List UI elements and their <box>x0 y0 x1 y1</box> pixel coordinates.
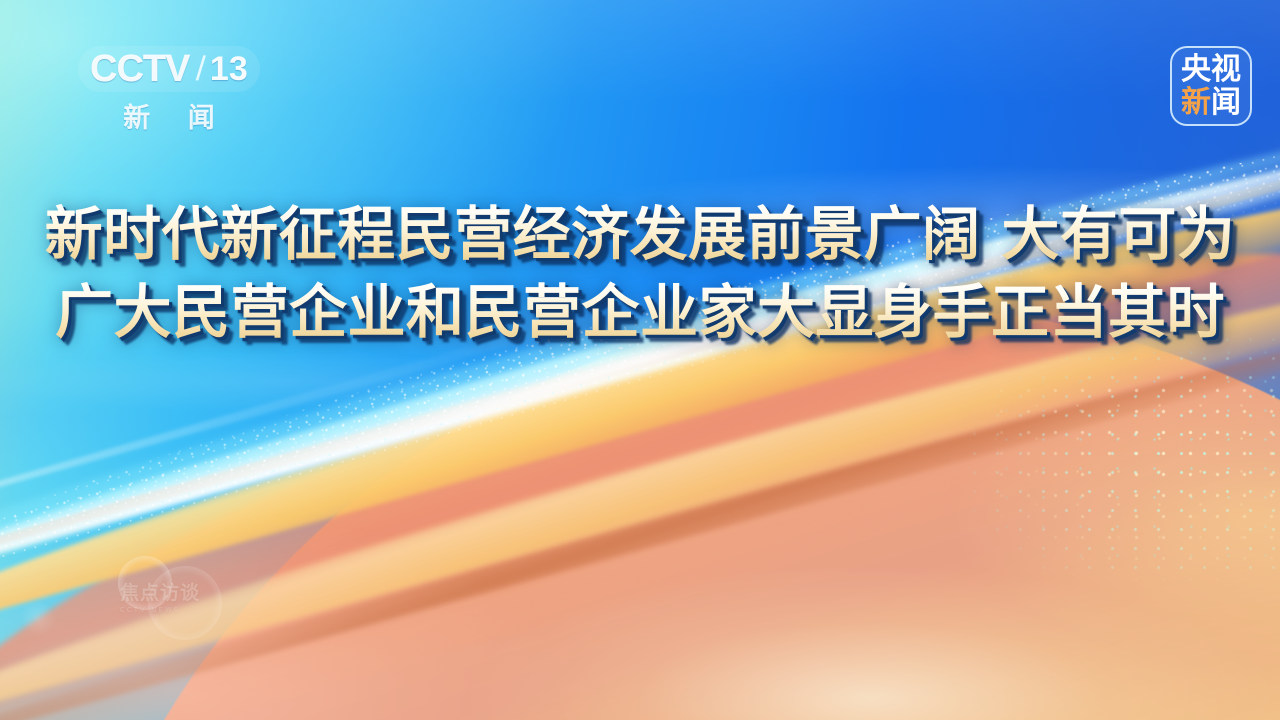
badge-line-bottom: 新 闻 <box>1181 88 1241 118</box>
cctv-wordmark: CCTV <box>90 50 189 88</box>
watermark-text: 焦点访谈 <box>120 582 200 604</box>
badge-line-top: 央 视 <box>1181 55 1241 85</box>
cctv13-logo-pill: CCTV / 13 <box>78 46 260 92</box>
badge-glyph-shi: 视 <box>1211 55 1241 85</box>
lens-flare-ring-a <box>118 556 172 610</box>
cctv-channel-number: 13 <box>210 52 248 86</box>
headline-block: 新时代新征程民营经济发展前景广阔 大有可为 广大民营企业和民营企业家大显身手正当… <box>0 196 1280 350</box>
watermark-subtext: CCTV NEWS <box>120 606 200 614</box>
lens-flare-dot <box>20 600 56 636</box>
cctv-channel-name: 新 闻 <box>78 96 260 135</box>
broadcast-frame: CCTV / 13 新 闻 央 视 新 闻 新时代新征程民营经济发展前景广阔 大… <box>0 0 1280 720</box>
badge-glyph-xin: 新 <box>1181 88 1211 118</box>
headline-line-2: 广大民营企业和民营企业家大显身手正当其时 <box>0 274 1280 350</box>
arc-dark-rim-line <box>0 112 1280 591</box>
program-watermark: 焦点访谈 CCTV NEWS <box>120 578 200 614</box>
lens-flare-ring-b <box>148 566 222 640</box>
cctv-slash-icon: / <box>196 52 207 86</box>
headline-line-1: 新时代新征程民营经济发展前景广阔 大有可为 <box>0 196 1280 272</box>
cctv-news-badge: 央 视 新 闻 <box>1170 46 1252 126</box>
badge-glyph-wen: 闻 <box>1211 88 1241 118</box>
cyan-sparkle-cluster <box>940 330 1280 580</box>
cctv13-channel-bug: CCTV / 13 新 闻 <box>78 46 278 135</box>
badge-glyph-yang: 央 <box>1181 55 1211 85</box>
gold-sparkle-dust <box>880 380 1280 680</box>
